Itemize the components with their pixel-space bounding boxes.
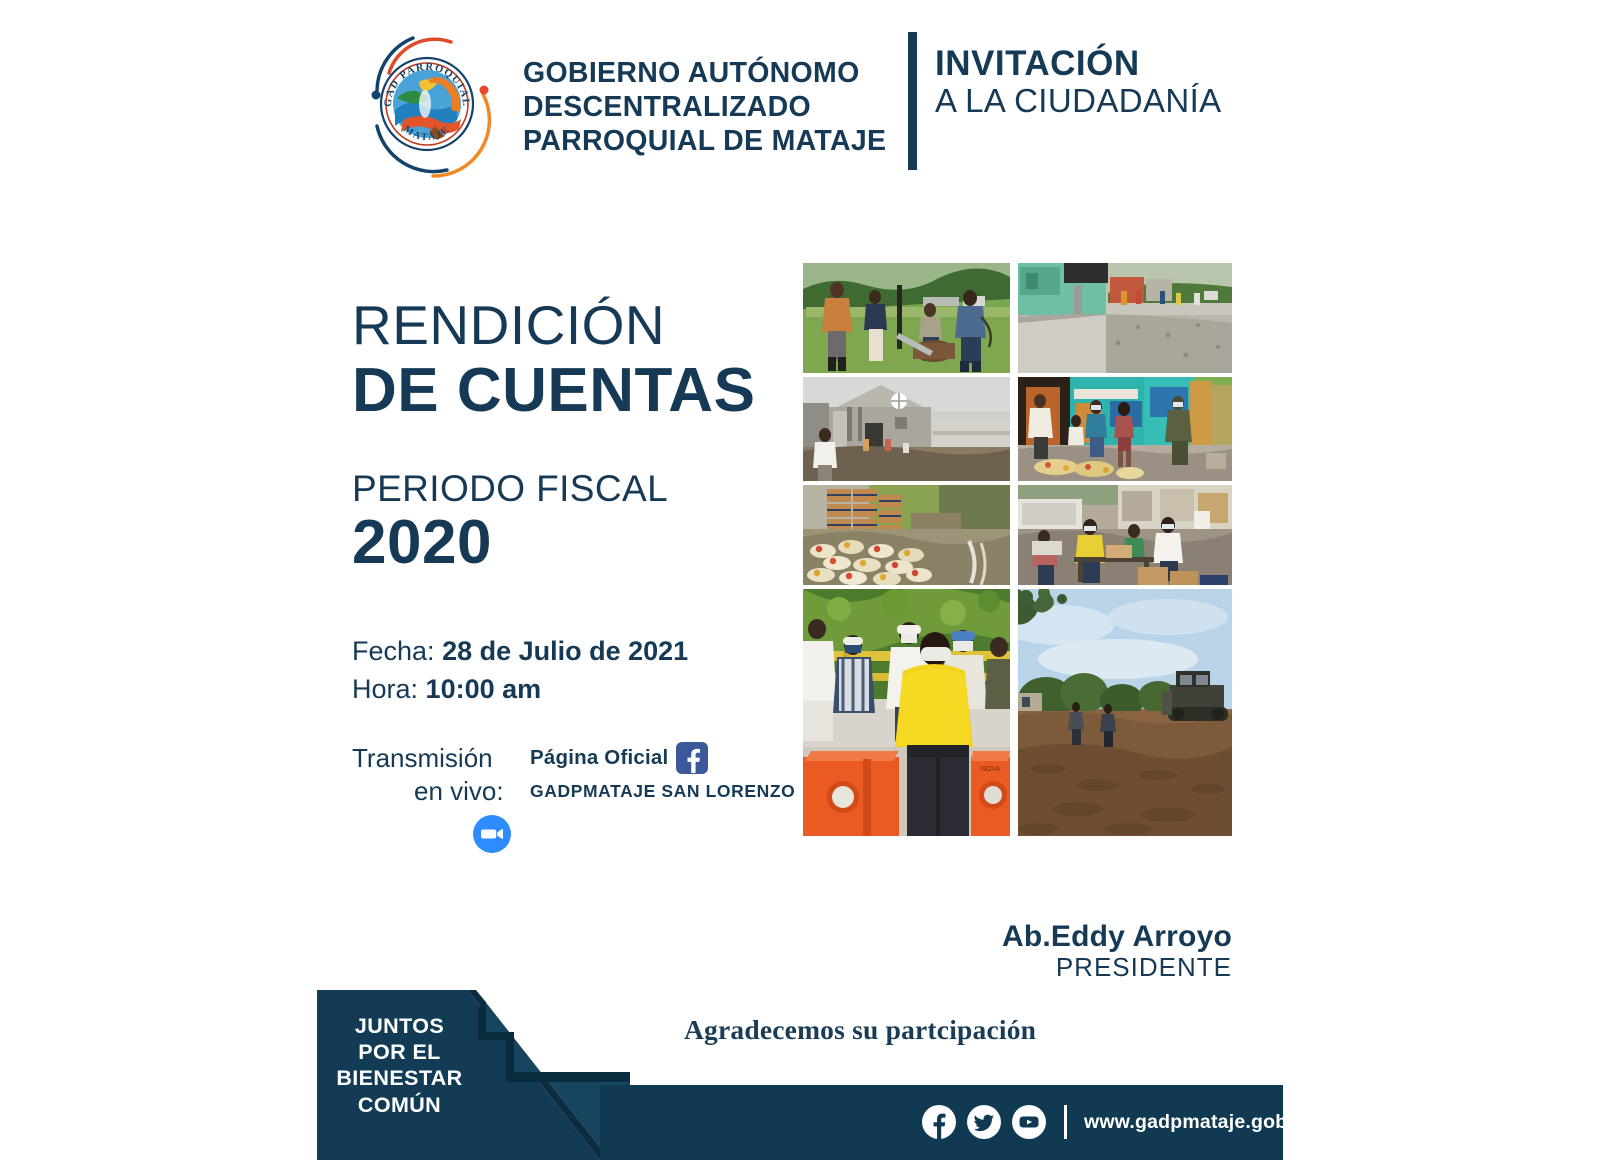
list-item: [1018, 589, 1232, 836]
svg-text:NOVA: NOVA: [981, 766, 1001, 773]
event-date-value: 28 de Julio de 2021: [442, 636, 688, 666]
facebook-icon[interactable]: [676, 742, 708, 774]
list-item: [803, 377, 1010, 481]
header-divider: [908, 32, 917, 170]
footer-motto-line3: BIENESTAR: [317, 1065, 482, 1091]
signature-name: Ab.Eddy Arroyo: [0, 920, 1232, 954]
event-time-value: 10:00 am: [426, 674, 542, 704]
list-item: [1018, 485, 1232, 585]
invitation-heading: INVITACIÓN: [935, 44, 1222, 83]
invitation-subheading: A LA CIUDADANÍA: [935, 83, 1222, 120]
list-item: [1018, 377, 1232, 481]
zoom-video-icon[interactable]: [473, 815, 511, 853]
event-date-label: Fecha:: [352, 636, 435, 666]
footer-motto-line2: POR EL: [317, 1039, 482, 1065]
page-title: GOBIERNO AUTÓNOMO DESCENTRALIZADO PARROQ…: [523, 56, 893, 159]
signature-role: PRESIDENTE: [0, 952, 1232, 983]
event-date-row: Fecha: 28 de Julio de 2021: [352, 638, 688, 665]
fiscal-period-year: 2020: [352, 512, 492, 574]
twitter-icon[interactable]: [967, 1105, 1001, 1139]
event-title-line2: DE CUENTAS: [352, 360, 755, 422]
youtube-icon[interactable]: [1012, 1105, 1046, 1139]
event-time-label: Hora:: [352, 674, 418, 704]
list-item: [803, 485, 1010, 585]
list-item: NOVA: [803, 589, 1010, 836]
event-time-row: Hora: 10:00 am: [352, 676, 541, 703]
invitation-block: INVITACIÓN A LA CIUDADANÍA: [935, 44, 1222, 120]
list-item: [803, 263, 1010, 373]
facebook-page-label: Página Oficial: [530, 746, 668, 770]
thanks-message: Agradecemos su partcipación: [684, 1014, 1036, 1046]
footer-motto-line4: COMÚN: [317, 1092, 482, 1118]
fiscal-period-label: PERIODO FISCAL: [352, 470, 668, 507]
footer-divider: [1064, 1105, 1067, 1139]
social-links: www.gadpmataje.gob.ec: [922, 1087, 1315, 1157]
footer-motto: JUNTOS POR EL BIENESTAR COMÚN: [317, 1013, 482, 1118]
gad-parroquial-mataje-seal-icon: GAD PARROQUIAL MATAJE: [355, 28, 505, 183]
footer-motto-line1: JUNTOS: [317, 1013, 482, 1039]
event-title-line1: RENDICIÓN: [352, 298, 665, 353]
facebook-page-handle: GADPMATAJE SAN LORENZO: [530, 781, 795, 802]
website-url[interactable]: www.gadpmataje.gob.ec: [1084, 1111, 1315, 1134]
photo-collage: NOVA: [803, 263, 1232, 836]
facebook-icon[interactable]: [922, 1105, 956, 1139]
facebook-page-group[interactable]: Página Oficial: [530, 742, 708, 774]
list-item: [1018, 263, 1232, 373]
